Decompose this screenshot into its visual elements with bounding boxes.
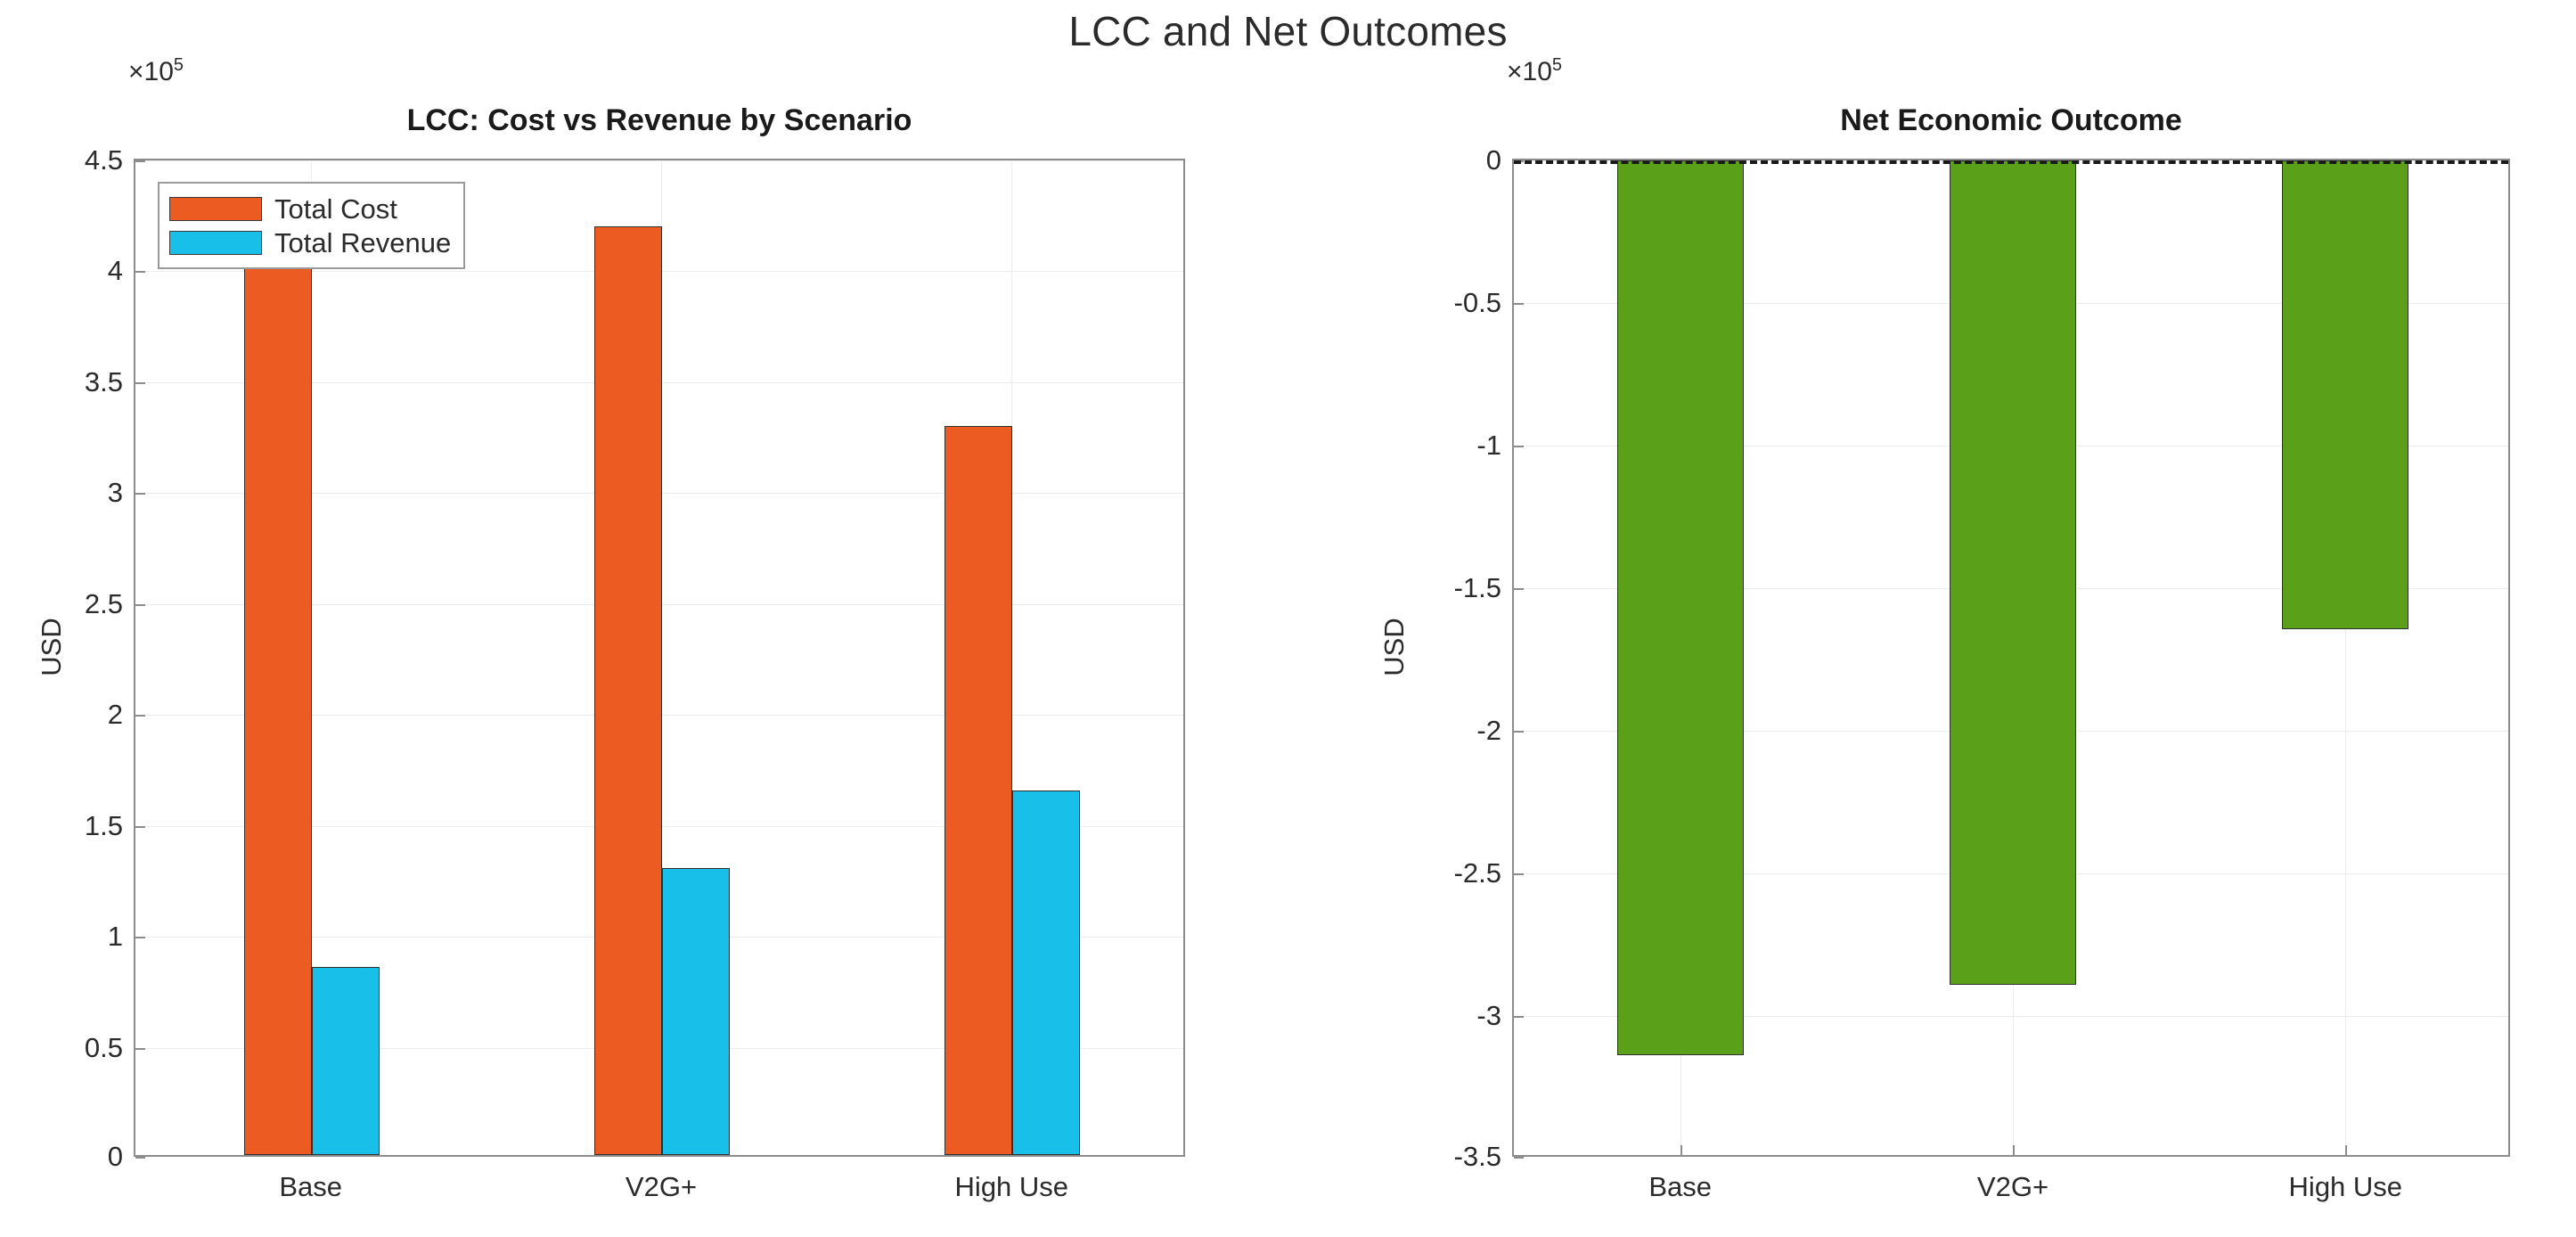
legend-swatch-total-revenue <box>169 231 262 255</box>
y-tick-label: 0 <box>1486 144 1501 176</box>
x-tick-label-base: Base <box>279 1171 342 1203</box>
legend-item-total-revenue[interactable]: Total Revenue <box>169 225 451 259</box>
y-tick-label: 0.5 <box>85 1032 123 1064</box>
zero-reference-line <box>1514 160 2508 164</box>
y-tick-label: 2.5 <box>85 588 123 620</box>
right-ylabel: USD <box>1378 540 1411 754</box>
legend-label-total-cost: Total Cost <box>274 195 397 223</box>
y-tick-mark <box>135 826 145 828</box>
bar-total-cost-high-use[interactable] <box>945 426 1012 1155</box>
left-subplot: LCC: Cost vs Revenue by Scenario ×105 US… <box>134 159 1185 1157</box>
figure-title: LCC and Net Outcomes <box>0 7 2576 55</box>
left-plot-area: 4.5 4 3.5 3 2.5 2 1.5 1 0.5 0 Base V2G+ <box>134 159 1185 1157</box>
y-tick-mark <box>1514 1157 1524 1159</box>
y-tick-label: -0.5 <box>1454 287 1501 319</box>
x-tick-label-base: Base <box>1648 1171 1712 1203</box>
right-subplot: Net Economic Outcome ×105 USD 0 -0.5 -1 <box>1512 159 2510 1157</box>
y-tick-label: -2 <box>1476 715 1501 747</box>
y-tick-label: 3.5 <box>85 366 123 398</box>
y-tick-mark <box>1514 588 1524 590</box>
y-tick-label: -3.5 <box>1454 1141 1501 1173</box>
bar-total-revenue-high-use[interactable] <box>1012 791 1080 1155</box>
right-exponent-label: ×105 <box>1507 55 1562 87</box>
bar-total-revenue-v2g[interactable] <box>662 868 730 1155</box>
y-tick-label: 0 <box>108 1141 123 1173</box>
y-tick-label: 3 <box>108 477 123 509</box>
y-tick-mark <box>1514 873 1524 875</box>
x-tick-label-high-use: High Use <box>2289 1171 2403 1203</box>
bar-total-revenue-base[interactable] <box>312 967 380 1155</box>
x-tick-label-high-use: High Use <box>955 1171 1069 1203</box>
x-tick-mark <box>1681 1145 1682 1155</box>
y-tick-mark <box>135 493 145 495</box>
y-tick-label: -1.5 <box>1454 572 1501 604</box>
bar-net-outcome-v2g[interactable] <box>1950 160 2076 985</box>
y-tick-mark <box>135 271 145 273</box>
bar-total-cost-v2g[interactable] <box>594 226 662 1155</box>
y-tick-mark <box>1514 303 1524 305</box>
left-ylabel: USD <box>36 540 68 754</box>
y-tick-label: 4 <box>108 255 123 287</box>
bar-net-outcome-base[interactable] <box>1617 160 1744 1055</box>
y-tick-mark <box>135 937 145 938</box>
left-panel-title: LCC: Cost vs Revenue by Scenario <box>134 103 1185 138</box>
figure-canvas: LCC and Net Outcomes LCC: Cost vs Revenu… <box>0 0 2576 1237</box>
right-plot-area: 0 -0.5 -1 -1.5 -2 -2.5 -3 -3.5 Base V2G+… <box>1512 159 2510 1157</box>
x-tick-mark <box>2345 1145 2347 1155</box>
y-tick-label: 1 <box>108 921 123 953</box>
y-tick-mark <box>1514 1016 1524 1018</box>
y-tick-label: 2 <box>108 699 123 731</box>
y-tick-mark <box>1514 446 1524 447</box>
y-tick-mark <box>135 1157 145 1159</box>
y-tick-mark <box>135 715 145 717</box>
bar-net-outcome-high-use[interactable] <box>2282 160 2408 629</box>
legend-swatch-total-cost <box>169 197 262 221</box>
y-tick-label: -3 <box>1476 1000 1501 1032</box>
bar-total-cost-base[interactable] <box>244 249 312 1155</box>
legend-label-total-revenue: Total Revenue <box>274 229 451 257</box>
y-tick-mark <box>135 604 145 606</box>
y-tick-label: -2.5 <box>1454 857 1501 889</box>
y-tick-label: 1.5 <box>85 810 123 842</box>
right-panel-title: Net Economic Outcome <box>1512 103 2510 138</box>
y-tick-mark <box>1514 731 1524 733</box>
x-tick-label-v2g: V2G+ <box>1977 1171 2049 1203</box>
x-tick-mark <box>2013 1145 2015 1155</box>
legend: Total Cost Total Revenue <box>158 182 465 269</box>
gridline <box>135 160 1183 161</box>
x-tick-label-v2g: V2G+ <box>626 1171 697 1203</box>
y-tick-mark <box>135 382 145 384</box>
left-exponent-label: ×105 <box>128 55 184 87</box>
y-tick-label: -1 <box>1476 430 1501 462</box>
y-tick-mark <box>135 1048 145 1050</box>
legend-item-total-cost[interactable]: Total Cost <box>169 192 451 225</box>
y-tick-label: 4.5 <box>85 144 123 176</box>
y-tick-mark <box>135 160 145 162</box>
